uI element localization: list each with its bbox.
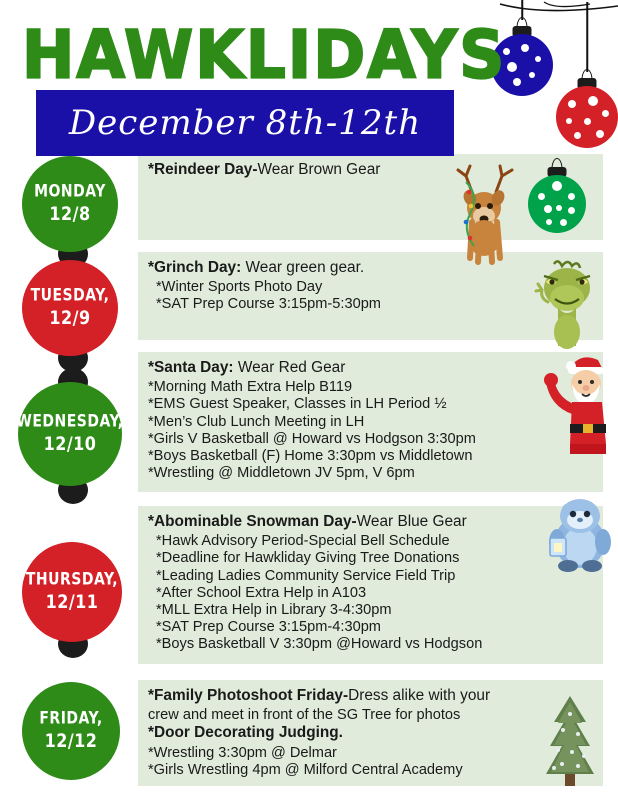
line-rest: Dress alike with your (348, 687, 490, 704)
day-panel-friday: *Family Photoshoot Friday-Dress alike wi… (138, 680, 603, 786)
date-banner: December 8th-12th (36, 90, 454, 156)
day-row-wednesday: WEDNESDAY, 12/10 *Santa Day: Wear Red Ge… (0, 350, 618, 498)
day-row-friday: FRIDAY, 12/12 *Family Photoshoot Friday-… (0, 678, 618, 798)
day-row-thursday: THURSDAY, 12/11 *Abominable Snowman Day-… (0, 498, 618, 678)
day-badge-monday[interactable]: MONDAY 12/8 (22, 156, 118, 252)
day-badge-friday[interactable]: FRIDAY, 12/12 (22, 682, 120, 780)
red-ornament (556, 2, 618, 162)
day-badge-wednesday[interactable]: WEDNESDAY, 12/10 (18, 382, 122, 486)
line-bold: *Santa Day: (148, 359, 234, 376)
line-bold: *Family Photoshoot Friday- (148, 687, 348, 704)
schedule-line: *Abominable Snowman Day-Wear Blue Gear (148, 513, 593, 531)
hawklidays-poster: MONDAY 12/8 *Reindeer Day-Wear Brown Gea… (0, 0, 618, 800)
line-bold: *Reindeer Day- (148, 161, 258, 178)
schedule-line: *Men’s Club Lunch Meeting in LH (148, 414, 593, 431)
badge-day-label: FRIDAY, (39, 711, 102, 729)
schedule-line: *Hawk Advisory Period-Special Bell Sched… (148, 533, 593, 550)
schedule-line: *EMS Guest Speaker, Classes in LH Period… (148, 396, 593, 413)
line-bold: *Door Decorating Judging. (148, 724, 343, 741)
schedule-line: *Grinch Day: Wear green gear. (148, 259, 593, 277)
schedule-line: *Morning Math Extra Help B119 (148, 379, 593, 396)
badge-day-label: MONDAY (34, 184, 106, 202)
schedule-line: *Boys Basketball (F) Home 3:30pm vs Midd… (148, 448, 593, 465)
schedule-line: *Boys Basketball V 3:30pm @Howard vs Hod… (148, 636, 593, 653)
schedule-line: *Wrestling 3:30pm @ Delmar (148, 745, 593, 762)
line-rest: Wear Blue Gear (357, 513, 467, 530)
schedule-line: *Girls Wrestling 4pm @ Milford Central A… (148, 762, 593, 779)
line-bold: *Abominable Snowman Day- (148, 513, 357, 530)
schedule-line: *Deadline for Hawkliday Giving Tree Dona… (148, 550, 593, 567)
badge-date-label: 12/12 (45, 730, 98, 751)
day-badge-tuesday[interactable]: TUESDAY, 12/9 (22, 260, 118, 356)
badge-day-label: WEDNESDAY, (16, 414, 123, 432)
day-panel-wednesday: *Santa Day: Wear Red Gear *Morning Math … (138, 352, 603, 492)
line-rest: Wear green gear. (241, 259, 364, 276)
schedule-line: *SAT Prep Course 3:15pm-5:30pm (148, 296, 593, 313)
day-badge-thursday[interactable]: THURSDAY, 12/11 (22, 542, 122, 642)
line-rest: Wear Red Gear (234, 359, 346, 376)
day-row-tuesday: TUESDAY, 12/9 *Grinch Day: Wear green ge… (0, 250, 618, 350)
schedule-line: *After School Extra Help in A103 (148, 585, 593, 602)
day-panel-tuesday: *Grinch Day: Wear green gear. *Winter Sp… (138, 252, 603, 340)
badge-day-label: TUESDAY, (31, 288, 110, 306)
day-panel-monday: *Reindeer Day-Wear Brown Gear (138, 154, 603, 240)
date-banner-text: December 8th-12th (36, 90, 454, 156)
schedule-line: *Wrestling @ Middletown JV 5pm, V 6pm (148, 465, 593, 482)
badge-date-label: 12/8 (49, 203, 90, 224)
schedule-line: *Girls V Basketball @ Howard vs Hodgson … (148, 431, 593, 448)
schedule-rows: MONDAY 12/8 *Reindeer Day-Wear Brown Gea… (0, 152, 618, 798)
schedule-line: *SAT Prep Course 3:15pm-4:30pm (148, 619, 593, 636)
badge-date-label: 12/9 (49, 307, 90, 328)
badge-day-label: THURSDAY, (26, 572, 118, 590)
schedule-line: *Leading Ladies Community Service Field … (148, 568, 593, 585)
line-bold: *Grinch Day: (148, 259, 241, 276)
schedule-line: *MLL Extra Help in Library 3-4:30pm (148, 602, 593, 619)
ornament-ball (556, 86, 618, 148)
badge-date-label: 12/10 (44, 433, 97, 454)
line-rest: Wear Brown Gear (258, 161, 381, 178)
schedule-line: *Family Photoshoot Friday-Dress alike wi… (148, 687, 593, 705)
schedule-line: crew and meet in front of the SG Tree fo… (148, 707, 593, 724)
page-title: HAWKLIDAYS (22, 16, 506, 93)
day-panel-thursday: *Abominable Snowman Day-Wear Blue Gear *… (138, 506, 603, 664)
day-row-monday: MONDAY 12/8 *Reindeer Day-Wear Brown Gea… (0, 152, 618, 250)
schedule-line: *Santa Day: Wear Red Gear (148, 359, 593, 377)
badge-date-label: 12/11 (46, 591, 99, 612)
schedule-line: *Winter Sports Photo Day (148, 279, 593, 296)
schedule-line: *Reindeer Day-Wear Brown Gear (148, 161, 593, 179)
schedule-line: *Door Decorating Judging. (148, 724, 593, 742)
